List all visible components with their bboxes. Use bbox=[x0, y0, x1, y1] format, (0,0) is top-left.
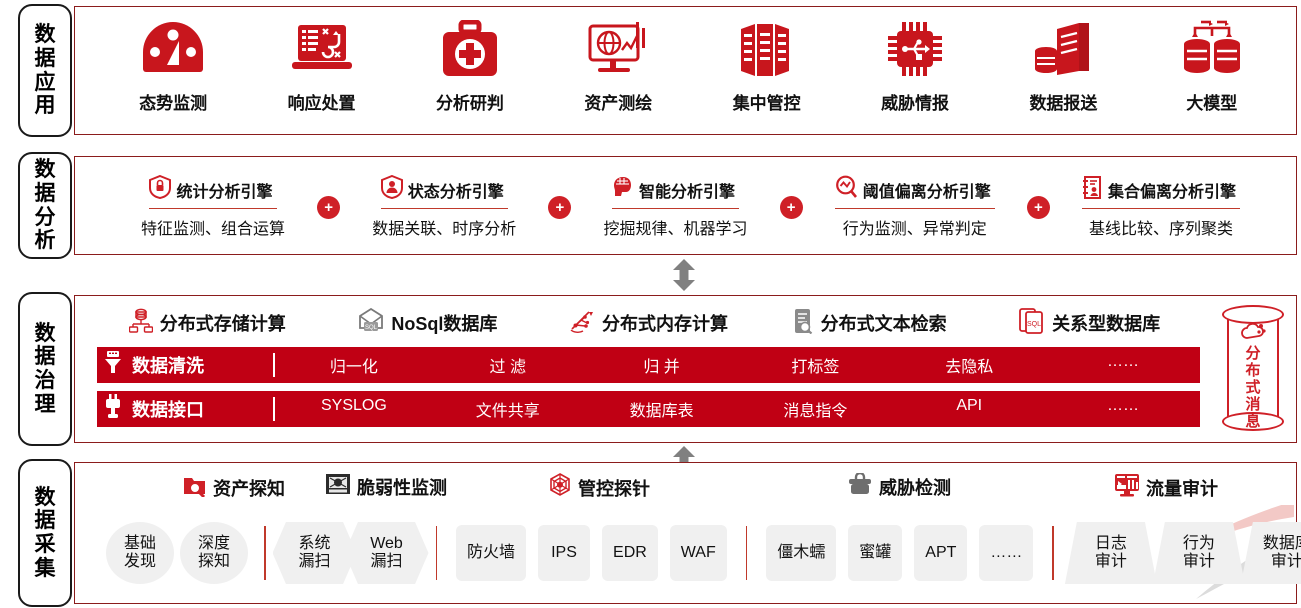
divider bbox=[273, 397, 275, 421]
band-collection: 资产探知 脆弱性监测 管控探针 威胁检测 bbox=[74, 462, 1297, 604]
analysis-engines: 统计分析引擎 特征监测、组合运算 + 状态分析引擎 数据关联、时序分析 + bbox=[93, 165, 1288, 249]
engine-title: 集合偏离分析引擎 bbox=[1108, 178, 1236, 202]
chip-line: EDR bbox=[613, 544, 647, 562]
collection-header-label: 威胁检测 bbox=[879, 474, 951, 500]
funnel-icon bbox=[103, 350, 123, 381]
band-label-char: 数 bbox=[35, 158, 56, 182]
list-item[interactable]: 防火墙 bbox=[456, 525, 526, 581]
governance-item[interactable]: 文件共享 bbox=[431, 397, 585, 421]
svg-text:SQL: SQL bbox=[365, 325, 378, 331]
group-divider bbox=[436, 526, 438, 580]
platform-nosql[interactable]: SQL NoSql数据库 bbox=[318, 308, 539, 339]
engine-set-deviation[interactable]: 集合偏离分析引擎 基线比较、序列聚类 bbox=[1082, 175, 1240, 239]
list-item[interactable]: 日志 审计 bbox=[1065, 522, 1157, 584]
collection-headers: 资产探知 脆弱性监测 管控探针 威胁检测 bbox=[95, 473, 1286, 507]
app-item-label: 分析研判 bbox=[436, 89, 504, 114]
governance-item[interactable]: 消息指令 bbox=[738, 397, 892, 421]
app-item-asset-mapping[interactable]: 资产测绘 bbox=[544, 17, 692, 114]
chip-line: 数据库 bbox=[1263, 535, 1301, 553]
chip-line: 审计 bbox=[1183, 553, 1215, 571]
chip-line: 探知 bbox=[198, 553, 230, 571]
gauge-dashboard-icon bbox=[141, 17, 205, 83]
engine-subtitle: 特征监测、组合运算 bbox=[141, 215, 285, 239]
platform-distributed-storage[interactable]: 分布式存储计算 bbox=[97, 308, 318, 339]
magnifier-wave-icon bbox=[835, 175, 858, 204]
shield-lock-icon bbox=[149, 175, 171, 204]
chip-line: 僵木蠕 bbox=[777, 544, 825, 562]
list-item[interactable]: 行为 审计 bbox=[1153, 522, 1245, 584]
governance-item[interactable]: 归 并 bbox=[585, 353, 739, 377]
platform-label: NoSql数据库 bbox=[391, 310, 497, 336]
band-label-application: 数 据 应 用 bbox=[18, 4, 72, 137]
chip-line: …… bbox=[990, 544, 1022, 562]
plus-connector: + bbox=[317, 196, 340, 219]
collection-header-traffic[interactable]: 流量审计 bbox=[1114, 473, 1218, 502]
message-bus-char: 息 bbox=[1245, 414, 1260, 431]
band-label-char: 据 bbox=[35, 509, 56, 533]
connector-arrow-analysis-governance bbox=[671, 259, 697, 291]
divider bbox=[273, 353, 275, 377]
collection-groups: 基础 发现 深度 探知 系统 漏扫 Web 漏扫 bbox=[95, 513, 1286, 593]
engine-subtitle: 数据关联、时序分析 bbox=[372, 215, 516, 239]
list-item[interactable]: WAF bbox=[670, 525, 727, 581]
app-item-central-control[interactable]: 集中管控 bbox=[693, 17, 841, 114]
band-label-char: 据 bbox=[35, 47, 56, 71]
governance-item[interactable]: 数据库表 bbox=[585, 397, 739, 421]
governance-item[interactable]: SYSLOG bbox=[277, 397, 431, 421]
engine-threshold-deviation[interactable]: 阈值偏离分析引擎 行为监测、异常判定 bbox=[835, 175, 995, 239]
app-item-large-model[interactable]: 大模型 bbox=[1138, 17, 1286, 114]
chip-line: APT bbox=[925, 544, 956, 562]
list-item[interactable]: APT bbox=[914, 525, 967, 581]
engine-state[interactable]: 状态分析引擎 数据关联、时序分析 bbox=[372, 175, 516, 239]
probe-node-icon bbox=[548, 473, 572, 502]
band-label-char: 数 bbox=[35, 322, 56, 346]
brain-head-icon bbox=[612, 175, 634, 204]
collection-group-threat: 僵木蠕 蜜罐 APT …… bbox=[760, 525, 1039, 581]
chip-line: 基础 bbox=[124, 535, 156, 553]
plus-connector: + bbox=[548, 196, 571, 219]
app-item-data-report[interactable]: 数据报送 bbox=[989, 17, 1137, 114]
band-label-char: 析 bbox=[35, 229, 56, 253]
message-bus-char: 布 bbox=[1245, 363, 1260, 380]
collection-group-asset: 基础 发现 深度 探知 bbox=[103, 522, 251, 584]
platform-label: 分布式存储计算 bbox=[160, 310, 286, 336]
chip-line: 系统 bbox=[298, 535, 330, 553]
governance-row-title: 数据接口 bbox=[132, 396, 204, 422]
chip-line: 防火墙 bbox=[467, 544, 515, 562]
band-label-char: 集 bbox=[35, 557, 56, 581]
band-label-collection: 数 据 采 集 bbox=[18, 459, 72, 607]
engine-title: 统计分析引擎 bbox=[176, 178, 272, 202]
document-search-icon bbox=[792, 308, 814, 339]
bug-scan-icon bbox=[325, 473, 351, 500]
app-item-label: 数据报送 bbox=[1029, 89, 1097, 114]
report-person-icon bbox=[1082, 175, 1103, 204]
app-item-label: 态势监测 bbox=[139, 89, 207, 114]
band-governance: 分布式存储计算 SQL NoSql数据库 分布式内存计算 分布式文本检索 bbox=[74, 295, 1297, 443]
band-label-char: 采 bbox=[35, 533, 56, 557]
message-bus-char: 式 bbox=[1245, 380, 1260, 397]
group-divider bbox=[264, 526, 266, 580]
platform-label: 分布式文本检索 bbox=[821, 310, 947, 336]
band-label-char: 数 bbox=[35, 23, 56, 47]
sql-pages-icon: SQL bbox=[1019, 308, 1045, 339]
platform-label: 关系型数据库 bbox=[1052, 310, 1160, 336]
collection-header-probe[interactable]: 管控探针 bbox=[548, 473, 650, 502]
band-label-char: 用 bbox=[35, 94, 56, 118]
application-items: 态势监测 响应 bbox=[99, 17, 1286, 127]
collection-group-audit: 日志 审计 行为 审计 数据库 审计 bbox=[1067, 522, 1301, 584]
collection-header-label: 流量审计 bbox=[1146, 475, 1218, 501]
engine-intelligent[interactable]: 智能分析引擎 挖掘规律、机器学习 bbox=[603, 175, 747, 239]
band-label-char: 治 bbox=[35, 369, 56, 393]
platform-text-search[interactable]: 分布式文本检索 bbox=[759, 308, 980, 339]
list-item[interactable]: 僵木蠕 bbox=[766, 525, 836, 581]
chip-line: 审计 bbox=[1095, 553, 1127, 571]
group-divider bbox=[746, 526, 748, 580]
list-item[interactable]: Web 漏扫 bbox=[345, 522, 429, 584]
folder-search-icon bbox=[183, 473, 207, 502]
chip-line: 蜜罐 bbox=[859, 544, 891, 562]
globe-monitor-icon bbox=[586, 17, 650, 83]
governance-item[interactable]: 去隐私 bbox=[892, 353, 1046, 377]
band-label-char: 应 bbox=[35, 71, 56, 95]
app-item-label: 集中管控 bbox=[733, 89, 801, 114]
chip-line: 深度 bbox=[198, 535, 230, 553]
list-item[interactable]: 数据库 审计 bbox=[1241, 522, 1301, 584]
band-application: 态势监测 响应 bbox=[74, 6, 1297, 135]
band-label-char: 理 bbox=[35, 393, 56, 417]
band-label-char: 据 bbox=[35, 182, 56, 206]
database-building-icon bbox=[1033, 17, 1093, 83]
list-item[interactable]: 系统 漏扫 bbox=[273, 522, 357, 584]
message-bus-char: 消 bbox=[1245, 397, 1260, 414]
list-item[interactable]: EDR bbox=[602, 525, 658, 581]
band-label-governance: 数 据 治 理 bbox=[18, 292, 72, 446]
collection-header-vuln[interactable]: 脆弱性监测 bbox=[325, 473, 447, 500]
collection-header-label: 脆弱性监测 bbox=[357, 474, 447, 500]
band-label-char: 据 bbox=[35, 345, 56, 369]
platform-rdbms[interactable]: SQL 关系型数据库 bbox=[979, 308, 1200, 339]
collection-header-label: 资产探知 bbox=[213, 475, 285, 501]
band-label-char: 数 bbox=[35, 486, 56, 510]
app-item-label: 威胁情报 bbox=[881, 89, 949, 114]
chip-line: 审计 bbox=[1271, 553, 1301, 571]
collection-header-label: 管控探针 bbox=[578, 475, 650, 501]
app-item-response[interactable]: 响应处置 bbox=[247, 17, 395, 114]
shield-user-icon bbox=[381, 175, 403, 204]
dual-database-model-icon bbox=[1181, 17, 1243, 83]
engine-title: 状态分析引擎 bbox=[408, 178, 504, 202]
group-divider bbox=[1052, 526, 1054, 580]
governance-row-title: 数据清洗 bbox=[132, 352, 204, 378]
engine-title: 阈值偏离分析引擎 bbox=[863, 178, 991, 202]
threat-bag-icon bbox=[847, 473, 873, 500]
chip-line: 发现 bbox=[124, 553, 156, 571]
collection-header-asset[interactable]: 资产探知 bbox=[183, 473, 285, 502]
governance-item[interactable]: 归一化 bbox=[277, 353, 431, 377]
laptop-workflow-icon bbox=[290, 17, 354, 83]
app-item-threat-intel[interactable]: 威胁情报 bbox=[841, 17, 989, 114]
list-item[interactable]: 深度 探知 bbox=[180, 522, 248, 584]
band-label-char: 分 bbox=[35, 206, 56, 230]
engine-subtitle: 行为监测、异常判定 bbox=[843, 215, 987, 239]
app-item-situation[interactable]: 态势监测 bbox=[99, 17, 247, 114]
svg-text:SQL: SQL bbox=[1027, 321, 1041, 328]
governance-item[interactable]: 打标签 bbox=[738, 353, 892, 377]
governance-item[interactable]: API bbox=[892, 397, 1046, 421]
traffic-monitor-icon bbox=[1114, 473, 1140, 502]
engine-subtitle: 基线比较、序列聚类 bbox=[1089, 215, 1233, 239]
distributed-storage-icon bbox=[129, 308, 153, 339]
plus-connector: + bbox=[780, 196, 803, 219]
memory-network-icon bbox=[569, 309, 595, 338]
governance-platforms: 分布式存储计算 SQL NoSql数据库 分布式内存计算 分布式文本检索 bbox=[97, 304, 1200, 342]
nosql-envelope-icon: SQL bbox=[358, 308, 384, 339]
distributed-message-bus[interactable]: 分 布 式 消 息 bbox=[1216, 304, 1290, 432]
engine-subtitle: 挖掘规律、机器学习 bbox=[603, 215, 747, 239]
cloud-message-icon bbox=[1240, 322, 1266, 347]
message-bus-char: 分 bbox=[1245, 346, 1260, 363]
platform-memory-compute[interactable]: 分布式内存计算 bbox=[538, 309, 759, 338]
band-analysis: 统计分析引擎 特征监测、组合运算 + 状态分析引擎 数据关联、时序分析 + bbox=[74, 156, 1297, 255]
chip-line: 漏扫 bbox=[298, 553, 330, 571]
chip-line: Web bbox=[370, 535, 403, 553]
governance-item: …… bbox=[1046, 397, 1200, 421]
band-label-analysis: 数 据 分 析 bbox=[18, 152, 72, 259]
list-item: …… bbox=[979, 525, 1033, 581]
chip-usb-icon bbox=[884, 17, 946, 83]
collection-group-vuln: 系统 漏扫 Web 漏扫 bbox=[279, 522, 423, 584]
governance-row-interface: 数据接口 SYSLOG 文件共享 数据库表 消息指令 API …… bbox=[97, 391, 1200, 427]
list-item[interactable]: 基础 发现 bbox=[106, 522, 174, 584]
governance-item: …… bbox=[1046, 353, 1200, 377]
governance-item[interactable]: 过 滤 bbox=[431, 353, 585, 377]
engine-statistical[interactable]: 统计分析引擎 特征监测、组合运算 bbox=[141, 175, 285, 239]
platform-label: 分布式内存计算 bbox=[602, 310, 728, 336]
medical-kit-icon bbox=[441, 17, 499, 83]
app-item-label: 大模型 bbox=[1186, 89, 1237, 114]
chip-line: 行为 bbox=[1183, 535, 1215, 553]
app-item-label: 资产测绘 bbox=[584, 89, 652, 114]
collection-group-probe: 防火墙 IPS EDR WAF bbox=[450, 525, 733, 581]
chip-line: WAF bbox=[681, 544, 716, 562]
list-item[interactable]: 蜜罐 bbox=[848, 525, 902, 581]
app-item-label: 响应处置 bbox=[288, 89, 356, 114]
plus-connector: + bbox=[1027, 196, 1050, 219]
governance-row-cleaning: 数据清洗 归一化 过 滤 归 并 打标签 去隐私 …… bbox=[97, 347, 1200, 383]
server-rack-icon bbox=[737, 17, 797, 83]
chip-line: 漏扫 bbox=[370, 553, 402, 571]
chip-line: 日志 bbox=[1095, 535, 1127, 553]
engine-title: 智能分析引擎 bbox=[639, 178, 735, 202]
chip-line: IPS bbox=[551, 544, 577, 562]
plug-icon bbox=[103, 394, 123, 425]
app-item-judgement[interactable]: 分析研判 bbox=[396, 17, 544, 114]
collection-header-threat[interactable]: 威胁检测 bbox=[847, 473, 951, 500]
list-item[interactable]: IPS bbox=[538, 525, 590, 581]
